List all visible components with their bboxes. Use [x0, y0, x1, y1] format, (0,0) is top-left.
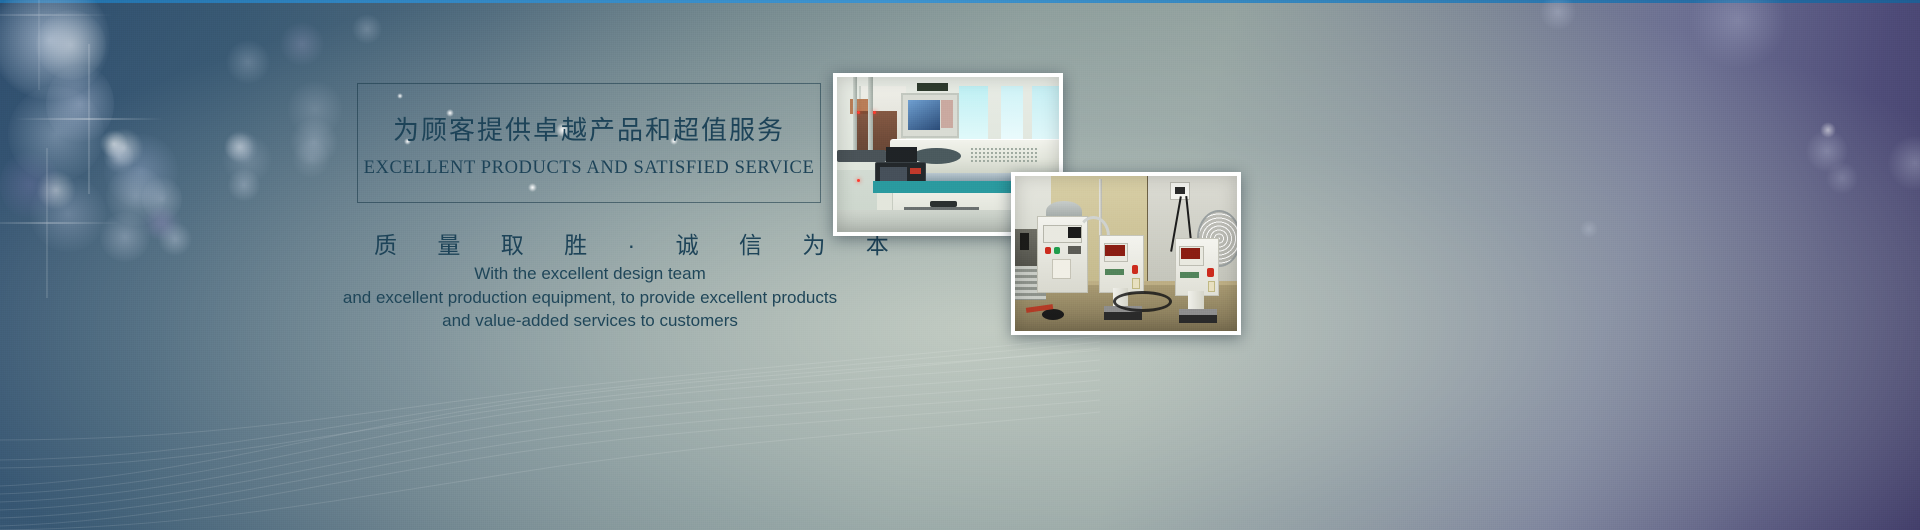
body-paragraph-english: With the excellent design team and excel…	[300, 262, 880, 333]
bokeh-circle	[1690, 0, 1786, 68]
body-line-3: and value-added services to customers	[300, 309, 880, 333]
bokeh-circle	[1540, 0, 1576, 30]
bokeh-circle	[1806, 130, 1848, 172]
hero-banner: 为顾客提供卓越产品和超值服务 EXCELLENT PRODUCTS AND SA…	[0, 0, 1920, 530]
press-machines-photo	[1011, 172, 1241, 335]
body-line-1: With the excellent design team	[300, 262, 880, 286]
bokeh-circle	[1580, 220, 1598, 238]
bokeh-circle	[1888, 136, 1920, 190]
bokeh-circle	[1820, 122, 1836, 138]
slogan-chinese: 质 量 取 胜 · 诚 信 为 本	[357, 226, 821, 260]
headline-chinese: 为顾客提供卓越产品和超值服务	[357, 110, 821, 147]
headline-english: EXCELLENT PRODUCTS AND SATISFIED SERVICE	[357, 158, 821, 179]
bokeh-circle	[1826, 162, 1858, 194]
body-line-2: and excellent production equipment, to p…	[300, 286, 880, 310]
